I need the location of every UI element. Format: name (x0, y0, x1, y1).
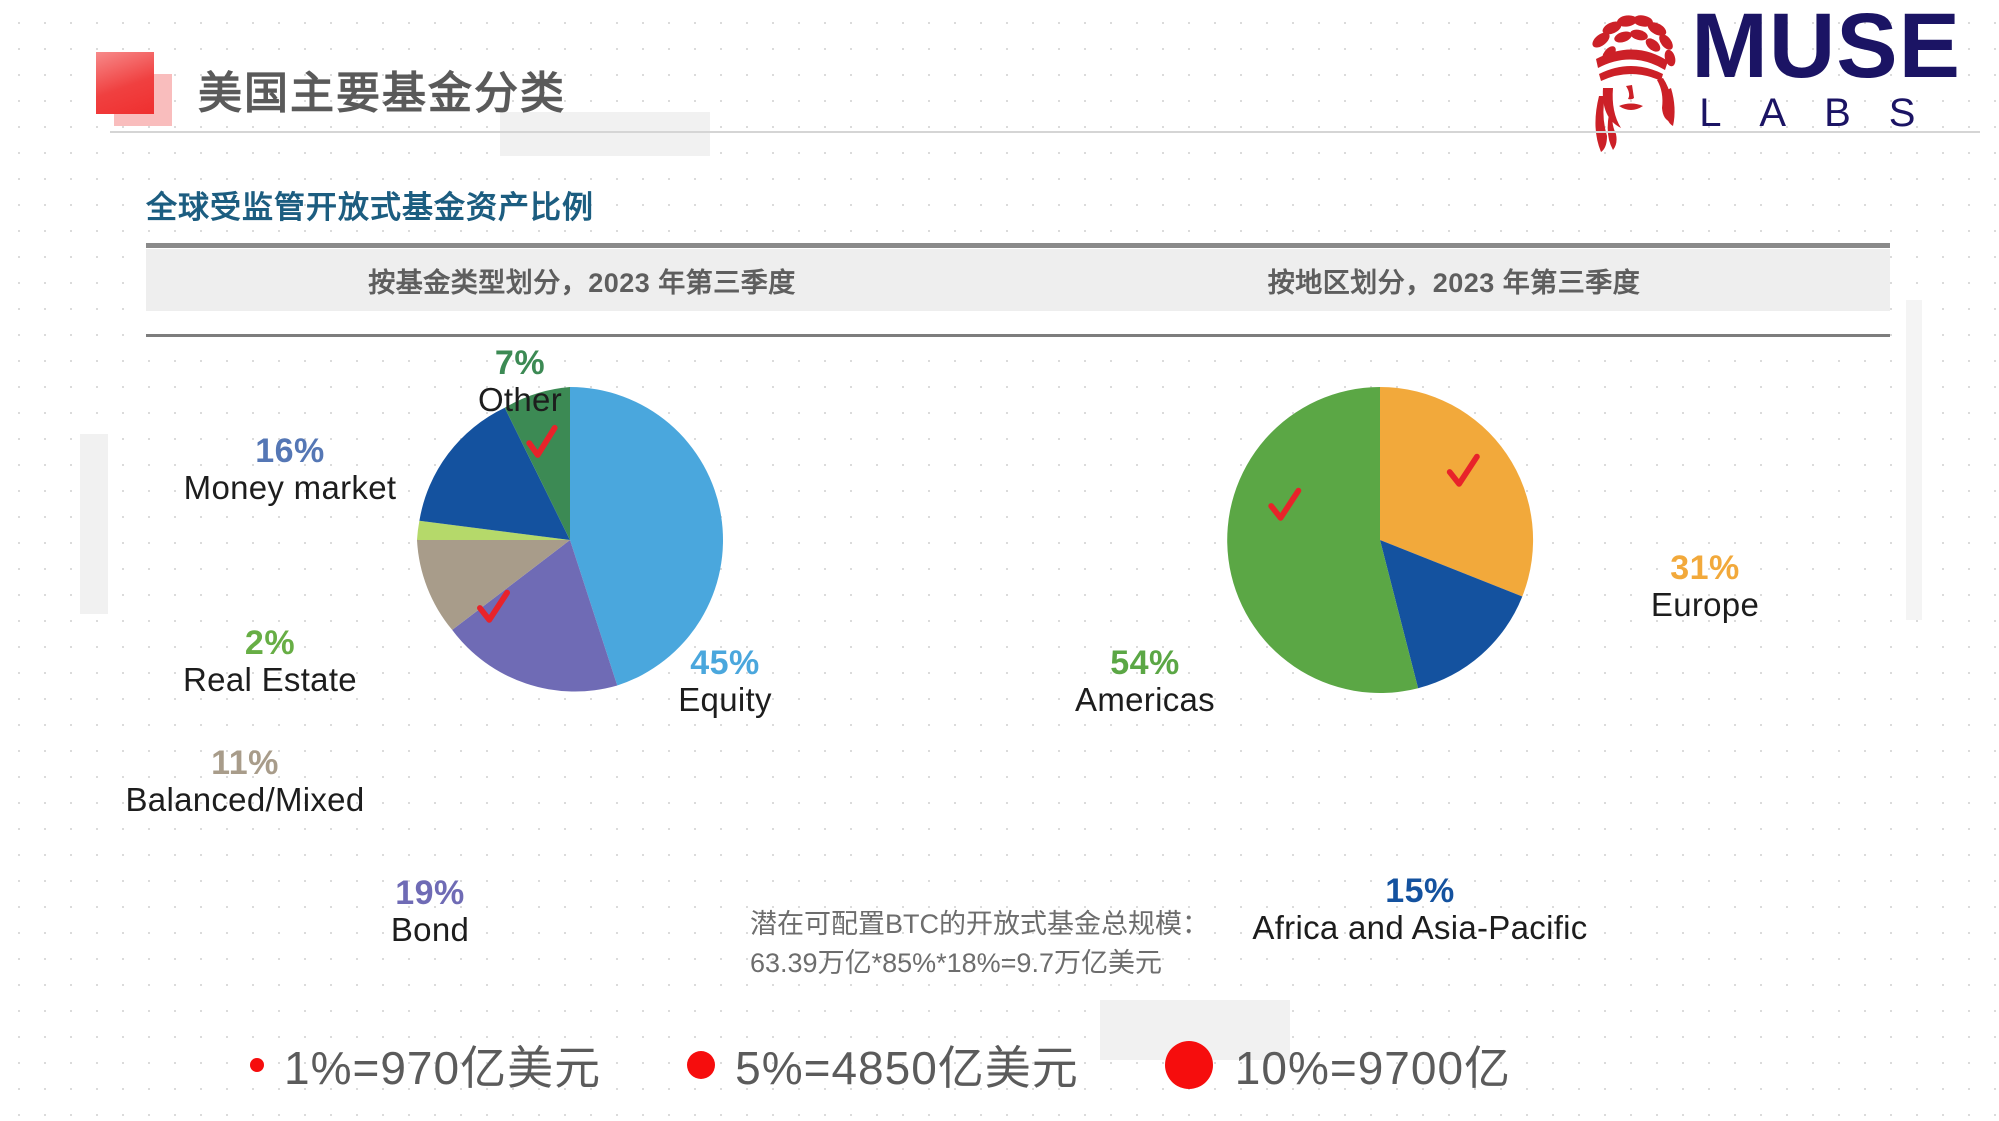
large-red-dot-icon (1165, 1041, 1213, 1089)
charts-container: 7% Other 16% Money market 2% Real Estate… (0, 345, 1999, 985)
pie-label-africa-asia-pacific: 15% Africa and Asia-Pacific (1120, 873, 1720, 945)
header-divider (110, 131, 1980, 133)
column-header-left: 按基金类型划分，2023 年第三季度 (146, 249, 1018, 311)
column-header-band: 按基金类型划分，2023 年第三季度 按地区划分，2023 年第三季度 (146, 249, 1890, 311)
pie-label-europe: 31% Europe (1565, 550, 1845, 622)
legend-item-5pct: 5%=4850亿美元 (687, 1032, 1079, 1098)
column-header-right: 按地区划分，2023 年第三季度 (1018, 249, 1890, 311)
legend-item-1pct: 1%=970亿美元 (250, 1032, 601, 1098)
legend-label-1pct: 1%=970亿美元 (284, 1032, 601, 1098)
medium-red-dot-icon (687, 1051, 715, 1079)
pie-label-africa-asia-pacific-name: Africa and Asia-Pacific (1120, 910, 1720, 946)
pie-label-other-name: Other (430, 382, 610, 418)
pie-label-money-market-pct: 16% (100, 433, 480, 470)
pie-label-americas-pct: 54% (1005, 645, 1285, 682)
pie-label-real-estate-name: Real Estate (105, 662, 435, 698)
title-accent-square (96, 52, 172, 126)
legend-label-10pct: 10%=9700亿 (1235, 1032, 1511, 1098)
pie-label-africa-asia-pacific-pct: 15% (1120, 873, 1720, 910)
logo-wordmark: MUSE (1691, 4, 1961, 89)
pie-label-balanced-mixed-pct: 11% (45, 745, 445, 782)
pie-label-europe-pct: 31% (1565, 550, 1845, 587)
logo-subwordmark: LABS (1691, 91, 1961, 136)
pie-label-money-market-name: Money market (100, 470, 480, 506)
pie-label-real-estate: 2% Real Estate (105, 625, 435, 697)
pie-label-real-estate-pct: 2% (105, 625, 435, 662)
pie-label-equity-name: Equity (600, 682, 850, 718)
pie-label-balanced-mixed: 11% Balanced/Mixed (45, 745, 445, 817)
conversion-legend: 1%=970亿美元 5%=4850亿美元 10%=9700亿 (0, 1020, 1999, 1110)
legend-item-10pct: 10%=9700亿 (1165, 1032, 1511, 1098)
pie-label-other-pct: 7% (430, 345, 610, 382)
page-header: 美国主要基金分类 (96, 52, 566, 126)
pie-label-equity-pct: 45% (600, 645, 850, 682)
pie-label-americas-name: Americas (1005, 682, 1285, 718)
pie-label-bond-name: Bond (290, 912, 570, 948)
pie-label-equity: 45% Equity (600, 645, 850, 717)
section-subtitle: 全球受监管开放式基金资产比例 (146, 182, 594, 227)
band-bottom-rule (146, 334, 1890, 337)
band-top-rule (146, 243, 1890, 248)
title-accent-square-front (96, 52, 154, 114)
pie-label-bond: 19% Bond (290, 875, 570, 947)
pie-label-bond-pct: 19% (290, 875, 570, 912)
pie-label-americas: 54% Americas (1005, 645, 1285, 717)
pie-label-money-market: 16% Money market (100, 433, 480, 505)
legend-label-5pct: 5%=4850亿美元 (735, 1032, 1079, 1098)
pie-label-other: 7% Other (430, 345, 610, 417)
pie-label-europe-name: Europe (1565, 587, 1845, 623)
pie-label-balanced-mixed-name: Balanced/Mixed (45, 782, 445, 818)
page-title: 美国主要基金分类 (198, 57, 566, 121)
small-red-dot-icon (250, 1058, 264, 1072)
